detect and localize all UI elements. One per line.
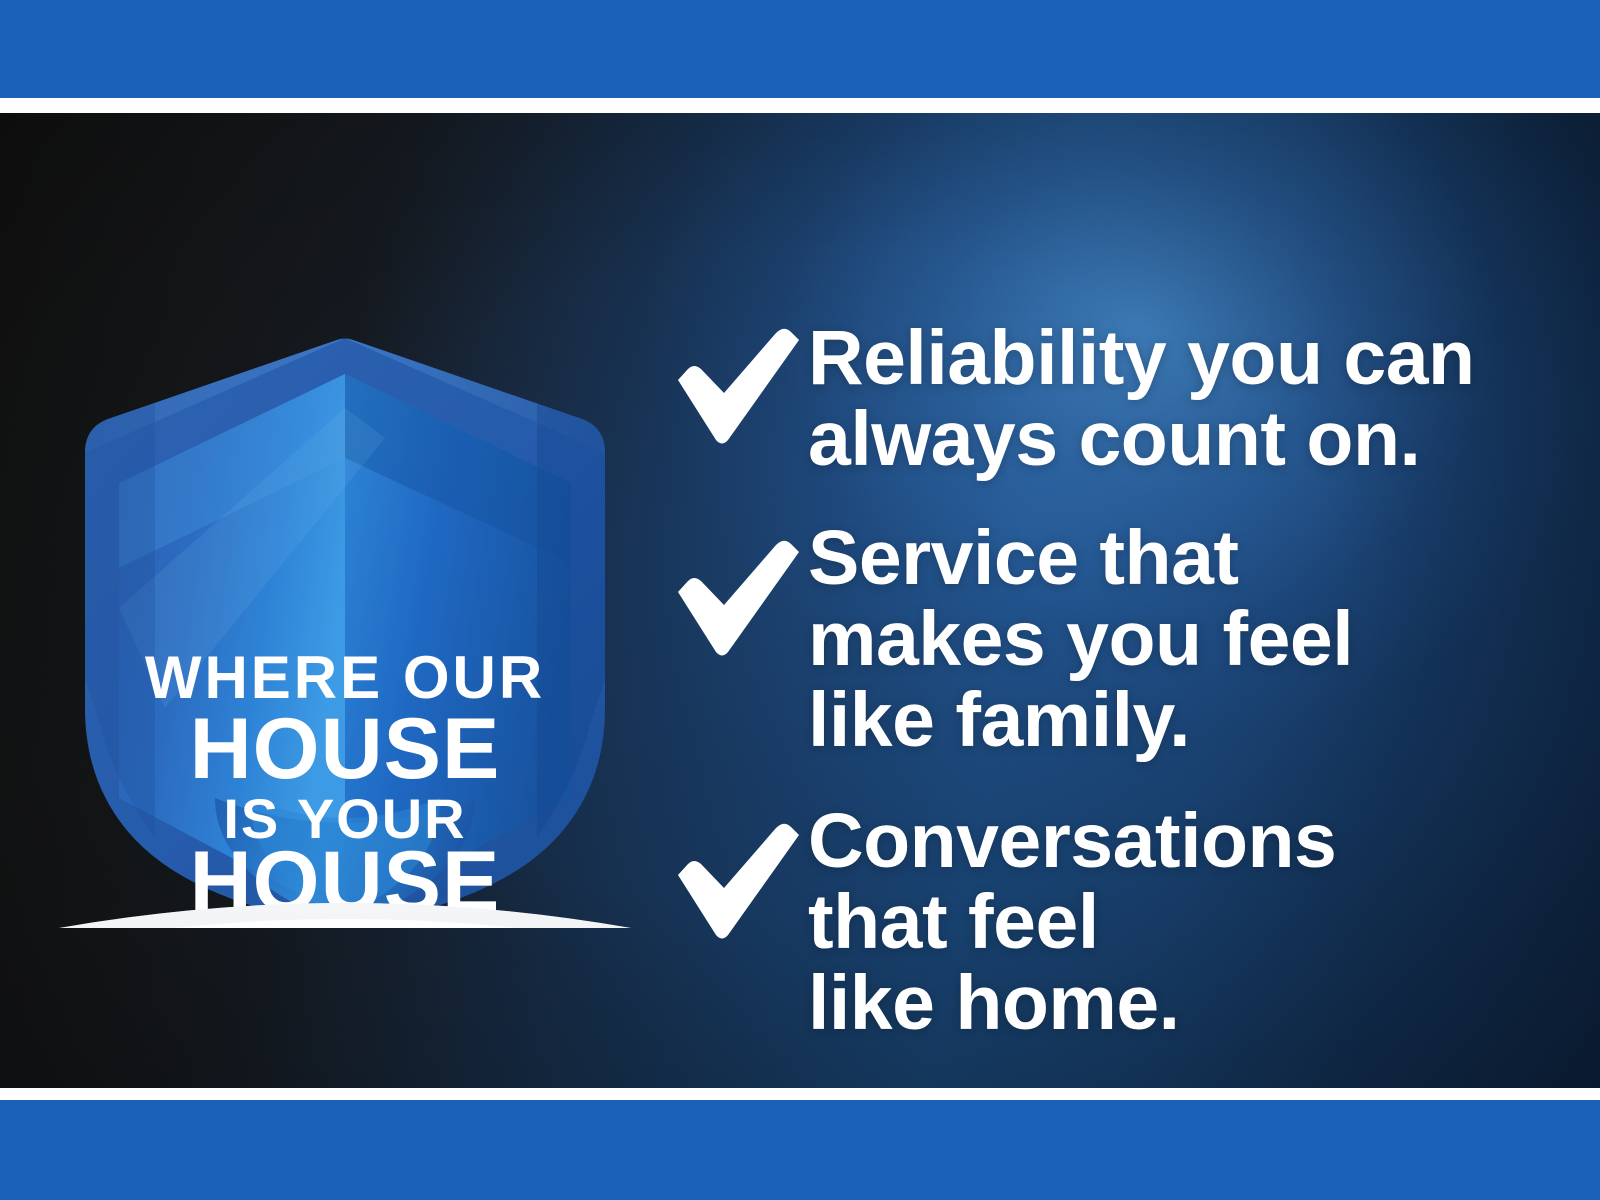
list-item-text: Service that makes you feel like family.	[808, 518, 1528, 761]
list-item-text: Conversations that feel like home.	[808, 801, 1528, 1044]
top-brand-bar	[0, 0, 1600, 98]
shield-emblem: WHERE OUR HOUSE IS YOUR HOUSE Since 1923	[45, 278, 645, 928]
check-icon	[668, 823, 808, 941]
check-icon	[668, 540, 808, 658]
check-icon	[668, 328, 808, 446]
list-item-text: Reliability you can always count on.	[808, 318, 1528, 480]
bottom-brand-bar	[0, 1100, 1600, 1200]
list-item: Reliability you can always count on.	[668, 318, 1528, 480]
benefits-checklist: Reliability you can always count on. Ser…	[668, 318, 1528, 1044]
list-item: Service that makes you feel like family.	[668, 518, 1528, 761]
poster-stage: WHERE OUR HOUSE IS YOUR HOUSE Since 1923	[0, 113, 1600, 1088]
list-item: Conversations that feel like home.	[668, 801, 1528, 1044]
emblem-ribbon	[59, 903, 631, 928]
emblem-line-2: HOUSE	[190, 701, 501, 797]
promo-poster: WHERE OUR HOUSE IS YOUR HOUSE Since 1923	[0, 0, 1600, 1200]
